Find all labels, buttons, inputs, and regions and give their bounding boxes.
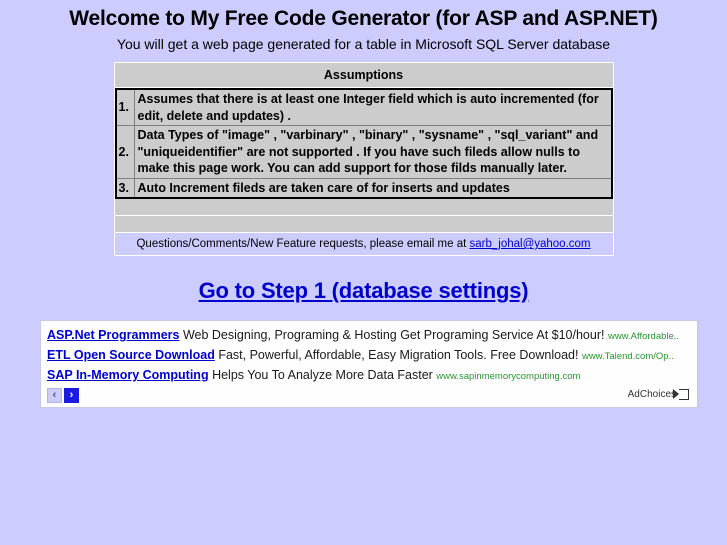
ad-item[interactable]: SAP In-Memory Computing Helps You To Ana…	[47, 366, 691, 386]
ad-block-footer: ‹ › AdChoices	[47, 388, 691, 406]
adchoices-label: AdChoices	[628, 389, 676, 400]
assumptions-table: 1. Assumes that there is at least one In…	[115, 88, 613, 199]
contact-footer-text: Questions/Comments/New Feature requests,…	[136, 238, 469, 250]
ad-url: www.sapinmemorycomputing.com	[436, 371, 580, 382]
ad-title-link[interactable]: ETL Open Source Download	[47, 348, 215, 362]
contact-footer: Questions/Comments/New Feature requests,…	[115, 233, 613, 255]
ad-title-link[interactable]: SAP In-Memory Computing	[47, 368, 209, 382]
table-row: 3. Auto Increment fileds are taken care …	[116, 178, 612, 198]
page-subtitle: You will get a web page generated for a …	[0, 32, 727, 53]
ad-pagination: ‹ ›	[47, 388, 79, 403]
ad-item[interactable]: ETL Open Source Download Fast, Powerful,…	[47, 346, 691, 366]
page-root: Welcome to My Free Code Generator (for A…	[0, 0, 727, 545]
assumptions-header: Assumptions	[115, 63, 613, 88]
assumptions-body: 1. Assumes that there is at least one In…	[115, 88, 613, 199]
assumption-number: 2.	[116, 126, 135, 179]
table-row: 1. Assumes that there is at least one In…	[116, 89, 612, 126]
step-link-container: Go to Step 1 (database settings)	[0, 278, 727, 304]
assumption-number: 1.	[116, 89, 135, 126]
spacer-row-1	[115, 199, 613, 216]
assumptions-panel: Assumptions 1. Assumes that there is at …	[114, 62, 614, 256]
assumption-number: 3.	[116, 178, 135, 198]
chevron-right-icon[interactable]: ›	[64, 388, 79, 403]
ad-description: Web Designing, Programing & Hosting Get …	[183, 328, 605, 342]
ad-block: ASP.Net Programmers Web Designing, Progr…	[40, 320, 698, 408]
spacer-row-2	[115, 216, 613, 233]
assumption-text: Auto Increment fileds are taken care of …	[134, 178, 612, 198]
email-link[interactable]: sarb_johal@yahoo.com	[470, 238, 591, 250]
page-title: Welcome to My Free Code Generator (for A…	[0, 0, 727, 32]
ad-description: Fast, Powerful, Affordable, Easy Migrati…	[218, 348, 578, 362]
go-to-step-1-link[interactable]: Go to Step 1 (database settings)	[199, 278, 529, 303]
ad-url: www.Talend.com/Op..	[582, 351, 674, 362]
assumption-text: Data Types of "image" , "varbinary" , "b…	[134, 126, 612, 179]
chevron-left-icon[interactable]: ‹	[47, 388, 62, 403]
ad-title-link[interactable]: ASP.Net Programmers	[47, 328, 179, 342]
table-row: 2. Data Types of "image" , "varbinary" ,…	[116, 126, 612, 179]
ad-url: www.Affordable..	[608, 331, 679, 342]
adchoices-control[interactable]: AdChoices	[628, 389, 689, 400]
assumption-text: Assumes that there is at least one Integ…	[134, 89, 612, 126]
ad-description: Helps You To Analyze More Data Faster	[212, 368, 433, 382]
adchoices-triangle-icon[interactable]	[679, 389, 689, 400]
ad-item[interactable]: ASP.Net Programmers Web Designing, Progr…	[47, 326, 691, 346]
